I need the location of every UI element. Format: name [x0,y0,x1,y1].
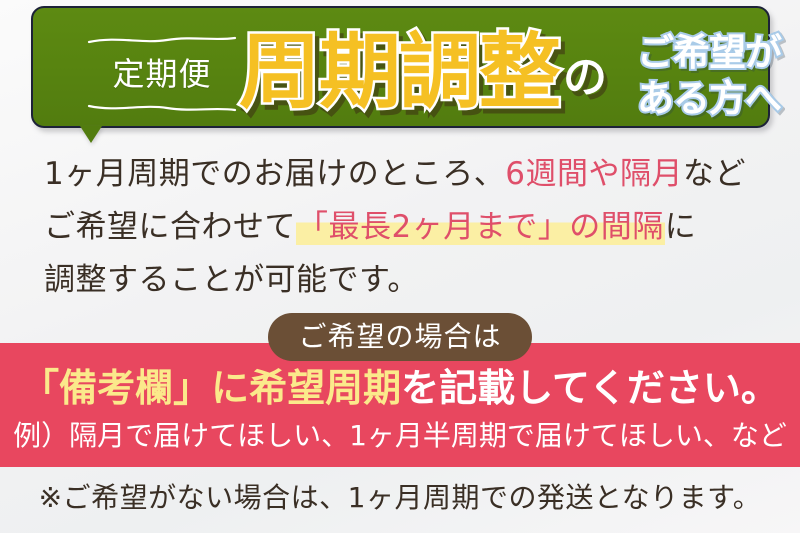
promo-graphic: 定期便 周期調整の ご希望が ある方へ 1ヶ月周期でのお届けのところ、6週間や隔… [0,0,800,533]
banner-speech-tail-icon [80,126,102,143]
banner-particle: の [563,52,607,103]
body-line-1-suffix: など [683,156,746,192]
header-banner: 定期便 周期調整の ご希望が ある方へ [31,6,770,128]
wave-rule-top-icon [87,36,237,45]
banner-target-line-2: ある方へ [637,76,800,122]
request-case-badge: ご希望の場合は [268,313,532,361]
body-line-2: ご希望に合わせて「最長2ヶ月まで」の間隔に [44,201,774,254]
body-line-2-prefix: ご希望に合わせて [44,209,296,245]
wave-rule-bottom-icon [87,103,237,112]
request-case-badge-label: ご希望の場合は [298,323,501,351]
footer-note: ※ご希望がない場合は、1ヶ月周期での発送となります。 [0,480,800,516]
subscription-badge-label: 定期便 [112,58,211,90]
instruction-example: 例）隔月で届けてほしい、1ヶ月半周期で届けてほしい、など [0,419,800,453]
instruction-band: 「備考欄」に希望周期を記載してください。 例）隔月で届けてほしい、1ヶ月半周期で… [0,343,800,467]
body-line-2-highlight: 「最長2ヶ月まで」の間隔 [296,209,665,245]
body-line-3: 調整することが可能です。 [44,254,774,307]
body-line-1: 1ヶ月周期でのお届けのところ、6週間や隔月など [44,148,774,201]
instruction-headline-rest: を記載してください。 [401,366,779,410]
banner-main-title-text: 周期調整 [239,25,559,120]
instruction-headline-accent: 「備考欄」に希望周期 [21,366,401,410]
body-line-1-prefix: 1ヶ月周期でのお届けのところ、 [44,156,505,192]
banner-target-line-1: ご希望が [637,30,800,76]
banner-target-audience: ご希望が ある方へ [637,30,800,122]
body-line-1-accent: 6週間や隔月 [505,156,683,192]
instruction-headline: 「備考欄」に希望周期を記載してください。 [0,365,800,411]
subscription-badge: 定期便 [87,38,237,110]
body-copy: 1ヶ月周期でのお届けのところ、6週間や隔月など ご希望に合わせて「最長2ヶ月まで… [44,148,774,307]
body-line-2-suffix: に [665,209,697,245]
banner-main-title: 周期調整の [239,26,607,125]
